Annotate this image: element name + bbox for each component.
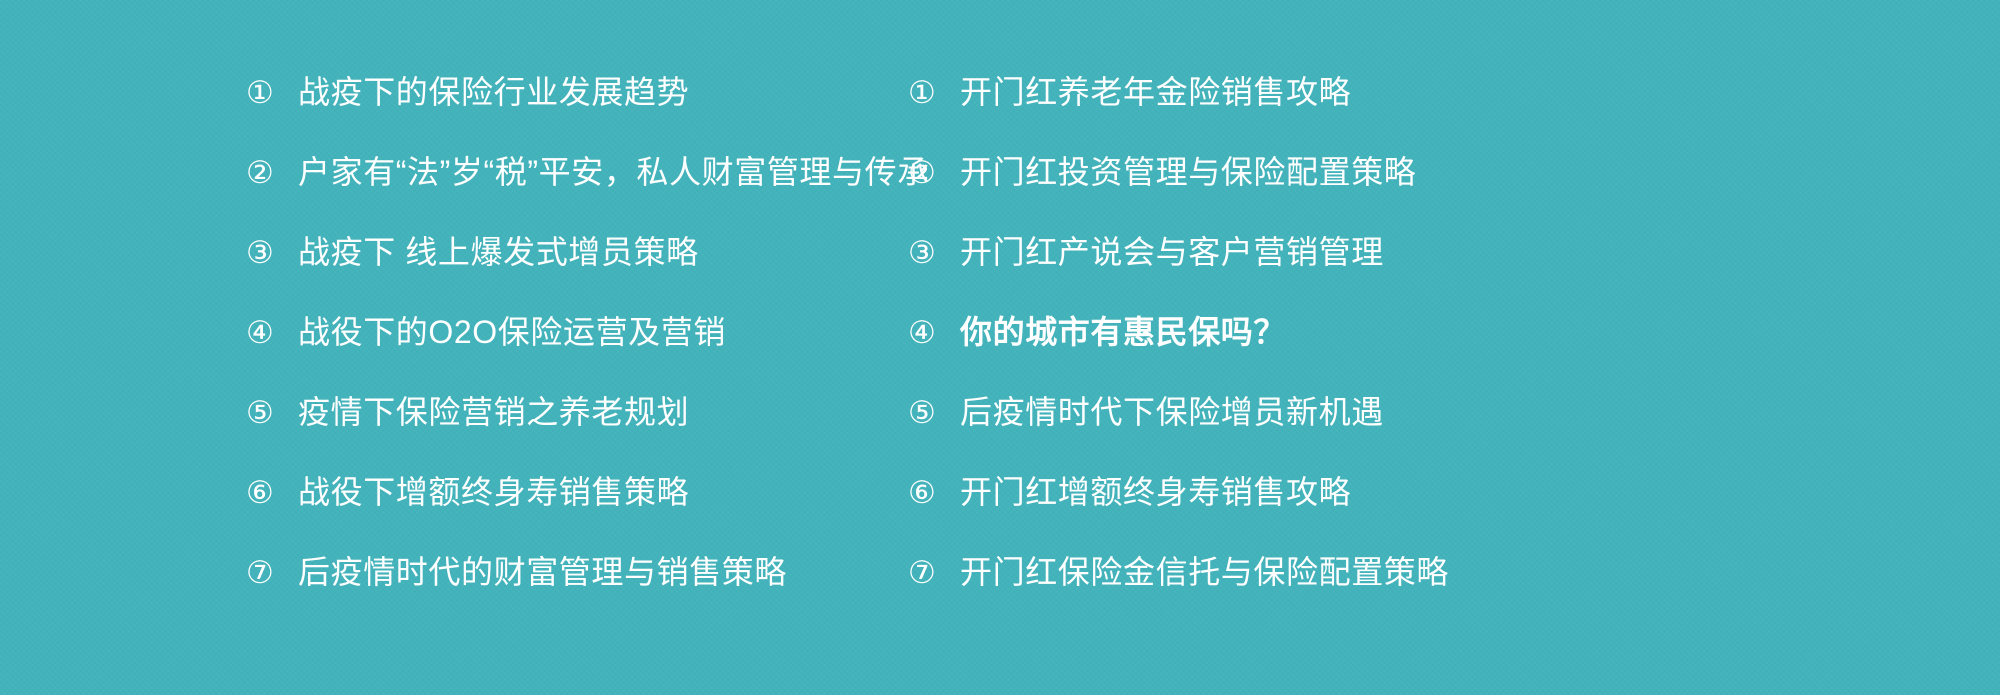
topic-row[interactable]: ⑤ 疫情下保险营销之养老规划 (246, 372, 830, 452)
topic-label: 战役下的O2O保险运营及营销 (298, 292, 726, 372)
topic-row[interactable]: ① 战疫下的保险行业发展趋势 (246, 52, 830, 132)
topic-row[interactable]: ⑦ 开门红保险金信托与保险配置策略 (908, 532, 2000, 612)
topic-row[interactable]: ① 开门红养老年金险销售攻略 (908, 52, 2000, 132)
topic-label: 开门红投资管理与保险配置策略 (960, 132, 1416, 212)
circled-number-icon: ⑦ (246, 533, 298, 613)
left-column: ① 战疫下的保险行业发展趋势 ② 户家有“法”岁“税”平安，私人财富管理与传承 … (0, 52, 830, 612)
topic-label: 疫情下保险营销之养老规划 (298, 372, 689, 452)
topic-row[interactable]: ⑦ 后疫情时代的财富管理与销售策略 (246, 532, 830, 612)
topic-label: 开门红养老年金险销售攻略 (960, 52, 1351, 132)
topic-label: 开门红增额终身寿销售攻略 (960, 452, 1351, 532)
topic-label: 战疫下的保险行业发展趋势 (298, 52, 689, 132)
topic-columns: ① 战疫下的保险行业发展趋势 ② 户家有“法”岁“税”平安，私人财富管理与传承 … (0, 0, 2000, 695)
topic-row[interactable]: ⑤ 后疫情时代下保险增员新机遇 (908, 372, 2000, 452)
topic-row[interactable]: ② 开门红投资管理与保险配置策略 (908, 132, 2000, 212)
topic-label: 战疫下 线上爆发式增员策略 (298, 212, 699, 292)
circled-number-icon: ⑤ (908, 373, 960, 453)
topic-row[interactable]: ② 户家有“法”岁“税”平安，私人财富管理与传承 (246, 132, 830, 212)
topic-row[interactable]: ④ 你的城市有惠民保吗？ (908, 292, 2000, 372)
topic-row[interactable]: ⑥ 开门红增额终身寿销售攻略 (908, 452, 2000, 532)
circled-number-icon: ⑥ (246, 453, 298, 533)
circled-number-icon: ① (246, 53, 298, 133)
circled-number-icon: ③ (908, 213, 960, 293)
topic-label: 后疫情时代的财富管理与销售策略 (298, 532, 787, 612)
right-column: ① 开门红养老年金险销售攻略 ② 开门红投资管理与保险配置策略 ③ 开门红产说会… (830, 52, 2000, 612)
circled-number-icon: ③ (246, 213, 298, 293)
topic-list-board: ① 战疫下的保险行业发展趋势 ② 户家有“法”岁“税”平安，私人财富管理与传承 … (0, 0, 2000, 695)
topic-label: 你的城市有惠民保吗？ (960, 292, 1286, 372)
topic-label: 开门红产说会与客户营销管理 (960, 212, 1384, 292)
circled-number-icon: ④ (246, 293, 298, 373)
topic-label: 战役下增额终身寿销售策略 (298, 452, 689, 532)
topic-row[interactable]: ③ 战疫下 线上爆发式增员策略 (246, 212, 830, 292)
topic-row[interactable]: ⑥ 战役下增额终身寿销售策略 (246, 452, 830, 532)
topic-row[interactable]: ③ 开门红产说会与客户营销管理 (908, 212, 2000, 292)
topic-row[interactable]: ④ 战役下的O2O保险运营及营销 (246, 292, 830, 372)
circled-number-icon: ④ (908, 293, 960, 373)
topic-label: 后疫情时代下保险增员新机遇 (960, 372, 1384, 452)
circled-number-icon: ⑥ (908, 453, 960, 533)
circled-number-icon: ② (246, 133, 298, 213)
circled-number-icon: ② (908, 133, 960, 213)
topic-label: 开门红保险金信托与保险配置策略 (960, 532, 1449, 612)
circled-number-icon: ⑦ (908, 533, 960, 613)
circled-number-icon: ⑤ (246, 373, 298, 453)
circled-number-icon: ① (908, 53, 960, 133)
